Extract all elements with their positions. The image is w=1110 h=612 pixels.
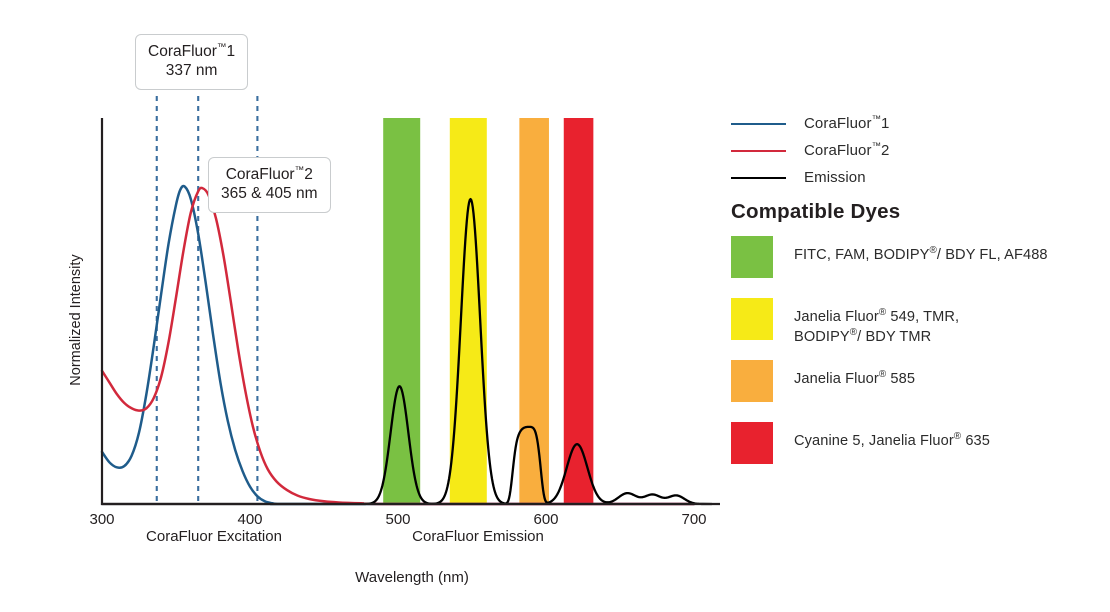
y-axis-label: Normalized Intensity xyxy=(68,254,84,386)
legend-label: Emission xyxy=(804,169,866,186)
band-jf549 xyxy=(450,118,487,504)
dye-row-2: Janelia Fluor® 585 xyxy=(731,360,1103,422)
excitation-region-label: CoraFluor Excitation xyxy=(146,528,282,545)
legend-label-text: CoraFluor xyxy=(804,142,872,159)
dye-label-line2-text: / BDY TMR xyxy=(857,329,931,345)
trademark-mark: ™ xyxy=(872,114,881,124)
dye-label-line1: FITC, FAM, BODIPY®/ BDY FL, AF488 xyxy=(794,247,1048,263)
callout-corafluor-2-line1: CoraFluor™2 xyxy=(221,165,318,184)
figure-root: 300400500600700 Normalized Intensity Wav… xyxy=(0,0,1110,612)
x-tick-label-400: 400 xyxy=(237,511,262,528)
dye-label-line1: Janelia Fluor® 585 xyxy=(794,371,915,387)
x-tick-label-700: 700 xyxy=(681,511,706,528)
trademark-mark: ™ xyxy=(872,141,881,151)
callout-corafluor-1-line2: 337 nm xyxy=(148,61,235,80)
legend-label: CoraFluor™2 xyxy=(804,142,889,159)
dye-row-0: FITC, FAM, BODIPY®/ BDY FL, AF488 xyxy=(731,236,1103,298)
x-axis-tick-labels: 300400500600700 xyxy=(89,511,706,528)
legend-line-swatch xyxy=(731,150,786,152)
dye-label: Janelia Fluor® 585 xyxy=(794,360,915,390)
legend-row-0: CoraFluor™1 xyxy=(731,110,1101,137)
dye-row-1: Janelia Fluor® 549, TMR,BODIPY®/ BDY TMR xyxy=(731,298,1103,360)
legend-line-swatch xyxy=(731,177,786,179)
x-axis-label: Wavelength (nm) xyxy=(355,569,469,586)
x-tick-label-600: 600 xyxy=(533,511,558,528)
compatible-dyes-title: Compatible Dyes xyxy=(731,200,900,224)
dye-label-line1-text: FITC, FAM, BODIPY xyxy=(794,247,930,263)
x-tick-label-500: 500 xyxy=(385,511,410,528)
legend-line-swatch xyxy=(731,123,786,125)
legend-label-text: CoraFluor xyxy=(804,115,872,132)
dye-color-swatch xyxy=(731,298,773,340)
emission-region-label: CoraFluor Emission xyxy=(412,528,544,545)
series-legend: CoraFluor™1CoraFluor™2Emission xyxy=(731,110,1101,191)
dye-label-line1-text: Janelia Fluor xyxy=(794,371,879,387)
legend-label-suffix: 2 xyxy=(881,142,889,159)
legend-label-suffix: 1 xyxy=(881,115,889,132)
compatible-dyes-list: FITC, FAM, BODIPY®/ BDY FL, AF488Janelia… xyxy=(731,236,1103,484)
callout-corafluor-1-line1: CoraFluor™1 xyxy=(148,42,235,61)
registered-mark: ® xyxy=(930,245,937,256)
legend-row-1: CoraFluor™2 xyxy=(731,137,1101,164)
dye-label-line2-text: BODIPY xyxy=(794,329,850,345)
dye-label-line1-text: Cyanine 5, Janelia Fluor xyxy=(794,433,954,449)
dye-color-swatch xyxy=(731,422,773,464)
dye-label-line1: Janelia Fluor® 549, TMR, xyxy=(794,309,959,325)
dye-label: Cyanine 5, Janelia Fluor® 635 xyxy=(794,422,990,452)
dye-label-line1-text: 585 xyxy=(886,371,915,387)
dye-label-line1: Cyanine 5, Janelia Fluor® 635 xyxy=(794,433,990,449)
dye-label-line1-text: / BDY FL, AF488 xyxy=(937,247,1048,263)
callout-corafluor-1: CoraFluor™1 337 nm xyxy=(135,34,248,90)
callout-corafluor-2-line2: 365 & 405 nm xyxy=(221,184,318,203)
trademark-mark: ™ xyxy=(217,42,227,53)
dye-label-line2: BODIPY®/ BDY TMR xyxy=(794,328,959,348)
x-tick-label-300: 300 xyxy=(89,511,114,528)
dye-label: Janelia Fluor® 549, TMR,BODIPY®/ BDY TMR xyxy=(794,298,959,347)
legend-row-2: Emission xyxy=(731,164,1101,191)
dye-row-3: Cyanine 5, Janelia Fluor® 635 xyxy=(731,422,1103,484)
dye-color-swatch xyxy=(731,360,773,402)
callout-corafluor-2: CoraFluor™2 365 & 405 nm xyxy=(208,157,331,213)
dye-label-line1-text: 635 xyxy=(961,433,990,449)
dye-color-swatch xyxy=(731,236,773,278)
legend-label: CoraFluor™1 xyxy=(804,115,889,132)
dye-label-line1-text: 549, TMR, xyxy=(886,309,959,325)
dye-label-line1-text: Janelia Fluor xyxy=(794,309,879,325)
trademark-mark: ™ xyxy=(295,165,305,176)
dye-label: FITC, FAM, BODIPY®/ BDY FL, AF488 xyxy=(794,236,1048,266)
band-jf585 xyxy=(519,118,549,504)
